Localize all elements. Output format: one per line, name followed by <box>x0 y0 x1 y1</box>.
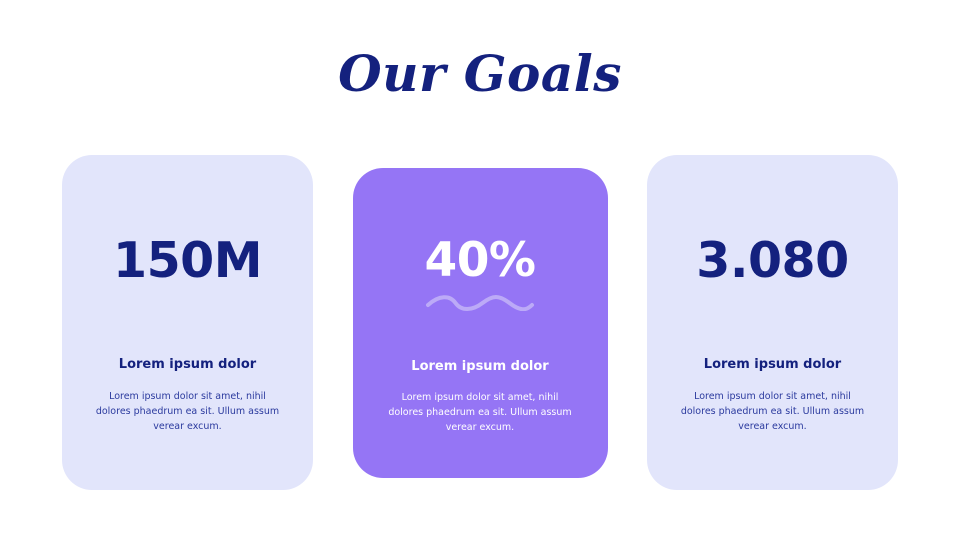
stat-headline-3: Lorem ipsum dolor <box>704 357 841 373</box>
page-title: Our Goals <box>0 44 960 104</box>
stat-card-1[interactable]: 150M Lorem ipsum dolor Lorem ipsum dolor… <box>62 155 313 490</box>
stat-body-1: Lorem ipsum dolor sit amet, nihil dolore… <box>96 389 280 434</box>
slide-root: Our Goals 150M Lorem ipsum dolor Lorem i… <box>0 0 960 540</box>
stat-value-1: 150M <box>113 235 262 287</box>
stat-value-3: 3.080 <box>696 235 849 287</box>
stat-card-2[interactable]: 40% Lorem ipsum dolor Lorem ipsum dolor … <box>353 168 608 478</box>
stat-value-2: 40% <box>425 235 536 287</box>
stat-headline-2: Lorem ipsum dolor <box>411 359 548 375</box>
stat-body-3: Lorem ipsum dolor sit amet, nihil dolore… <box>681 389 865 434</box>
stat-headline-1: Lorem ipsum dolor <box>119 357 256 373</box>
stats-card-row: 150M Lorem ipsum dolor Lorem ipsum dolor… <box>62 155 898 490</box>
stat-card-3[interactable]: 3.080 Lorem ipsum dolor Lorem ipsum dolo… <box>647 155 898 490</box>
wave-divider-icon <box>425 295 535 311</box>
stat-body-2: Lorem ipsum dolor sit amet, nihil dolore… <box>388 390 572 435</box>
